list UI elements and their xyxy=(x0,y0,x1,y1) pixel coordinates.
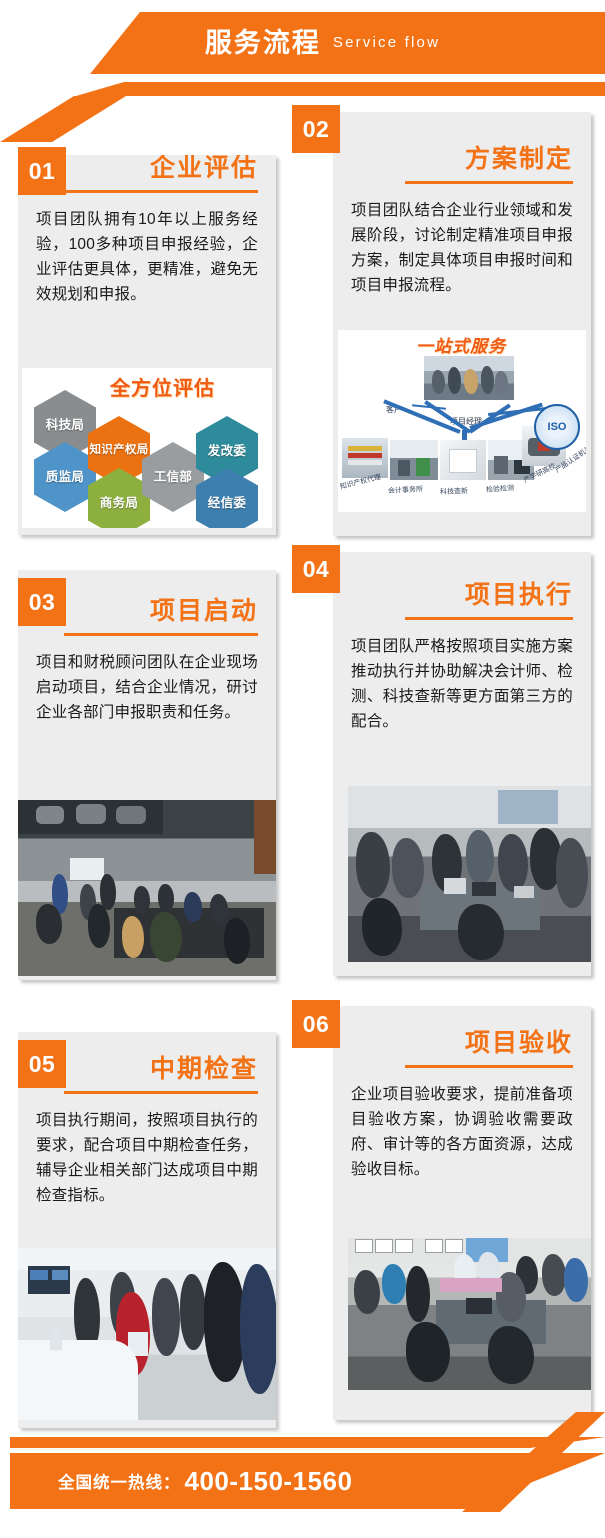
oss-partner-thumb xyxy=(390,440,438,480)
person-silhouette xyxy=(158,884,174,912)
step-body-04: 项目团队严格按照项目实施方案推动执行并协助解决会计师、检测、科技查新等更方面第三… xyxy=(333,620,591,734)
hex-node-label: 经信委 xyxy=(208,496,246,510)
photo-conference-table-04 xyxy=(348,786,591,962)
person-silhouette xyxy=(466,830,494,884)
wall-certificate xyxy=(396,1240,412,1252)
person-silhouette xyxy=(150,912,182,962)
step-title-02: 方案制定 xyxy=(333,112,591,174)
reception-counter xyxy=(18,1340,138,1420)
header-chevron-tail xyxy=(0,96,200,142)
figure-silhouette xyxy=(464,369,478,394)
hex-node-2: 质监局 xyxy=(34,442,96,512)
hex-node-label: 知识产权局 xyxy=(90,444,149,457)
book-stack xyxy=(348,460,382,465)
hotline-label: 全国统一热线： xyxy=(58,1469,181,1493)
person-silhouette xyxy=(392,838,424,898)
counter-display xyxy=(50,1328,62,1350)
wood-wall-panel xyxy=(254,800,276,874)
wall-certificate xyxy=(376,1240,392,1252)
hex-assessment-diagram: 全方位评估 科技局 质监局 知识产权局 商务局 工信部 发改委 经信委 xyxy=(22,368,272,528)
ceiling-panel xyxy=(116,806,146,824)
step-title-01: 企业评估 xyxy=(64,155,276,183)
flower-arrangement xyxy=(440,1278,502,1292)
page-header: 服务流程 Service flow xyxy=(0,0,605,112)
footer-hotline-group: 全国统一热线： 400-150-1560 xyxy=(10,1453,470,1509)
oss-partner-label-3: 检验检测 xyxy=(486,483,515,495)
wall-certificate xyxy=(356,1240,372,1252)
hex-node-label: 工信部 xyxy=(154,470,192,484)
hex-node-6: 经信委 xyxy=(196,468,258,528)
laptop xyxy=(466,1298,492,1314)
step-title-04: 项目执行 xyxy=(333,552,591,610)
document-stack xyxy=(444,878,466,894)
person-silhouette xyxy=(354,1270,380,1314)
step-title-03: 项目启动 xyxy=(64,570,276,626)
person-silhouette xyxy=(498,834,528,892)
person-silhouette xyxy=(180,1274,206,1350)
step-body-01: 项目团队拥有10年以上服务经验，100多种项目申报经验，企业评估更具体，更精准，… xyxy=(18,193,276,307)
document-stack xyxy=(514,886,534,898)
step-number-badge-04: 04 xyxy=(292,545,340,593)
footer-accent-stripe xyxy=(10,1437,605,1448)
office-chair xyxy=(488,1326,534,1384)
step-number-badge-03: 03 xyxy=(18,578,66,626)
screen-content xyxy=(30,1270,48,1280)
wall-certificate xyxy=(446,1240,462,1252)
hex-diagram-title: 全方位评估 xyxy=(110,372,215,401)
step-number-badge-02: 02 xyxy=(292,105,340,153)
ceiling-panel xyxy=(76,804,106,824)
step-body-05: 项目执行期间，按照项目执行的要求，配合项目中期检查任务，辅导企业相关部门达成项目… xyxy=(18,1094,276,1208)
step-number-badge-06: 06 xyxy=(292,1000,340,1048)
office-chair xyxy=(406,1322,450,1382)
header-title-group: 服务流程 Service flow xyxy=(0,12,605,74)
page-subtitle: Service flow xyxy=(333,35,440,51)
oss-partner-label-1: 会计事务所 xyxy=(388,484,423,496)
office-chair xyxy=(458,904,504,960)
one-stop-service-diagram: 一站式服务 客户 项目经理 ISO 知识产权代理 会计事务所 xyxy=(338,330,586,512)
figure-silhouette xyxy=(481,366,494,394)
ceiling-panel xyxy=(36,806,64,824)
photo-content xyxy=(348,1238,591,1390)
lab-instrument xyxy=(494,456,508,474)
whiteboard xyxy=(70,858,104,880)
person-silhouette xyxy=(134,886,150,914)
photo-board-meeting-06 xyxy=(348,1238,591,1390)
step-title-06: 项目验收 xyxy=(333,1006,591,1058)
book-stack xyxy=(348,453,382,458)
photo-exhibition-hall-05 xyxy=(18,1248,276,1420)
person-silhouette xyxy=(122,916,144,958)
step-body-06: 企业项目验收要求，提前准备项目验收方案，协调验收需要政府、审计等的各方面资源，达… xyxy=(333,1068,591,1182)
office-chair xyxy=(362,898,402,956)
person-silhouette xyxy=(240,1264,276,1394)
person-silhouette xyxy=(184,892,202,922)
photo-content xyxy=(348,786,591,962)
step-body-02: 项目团队结合企业行业领域和发展阶段，讨论制定精准项目申报方案，制定具体项目申报时… xyxy=(333,184,591,298)
oss-partner-thumb xyxy=(440,440,486,480)
office-desk xyxy=(398,460,410,476)
hex-node-3: 工信部 xyxy=(142,442,204,512)
office-chair xyxy=(224,918,250,964)
hotline-number[interactable]: 400-150-1560 xyxy=(185,1466,353,1497)
iso-certification-seal: ISO xyxy=(534,404,580,450)
hex-node-4: 商务局 xyxy=(88,468,150,528)
oss-diagram-title: 一站式服务 xyxy=(416,332,506,357)
header-accent-stripe xyxy=(0,82,605,96)
oss-partner-thumb xyxy=(342,438,388,478)
person-silhouette xyxy=(210,894,228,924)
step-title-05: 中期检查 xyxy=(64,1032,276,1084)
person-silhouette xyxy=(564,1258,588,1302)
wall-certificate xyxy=(426,1240,442,1252)
photo-content xyxy=(18,800,276,976)
hex-node-label: 质监局 xyxy=(46,470,84,484)
screen-content xyxy=(52,1270,68,1280)
person-silhouette xyxy=(542,1254,566,1296)
figure-silhouette xyxy=(432,370,445,394)
document-sheet xyxy=(450,450,476,472)
person-silhouette xyxy=(88,904,110,948)
page-title: 服务流程 xyxy=(205,30,321,57)
seal-label: ISO xyxy=(548,421,567,433)
figure-silhouette xyxy=(495,371,508,394)
window xyxy=(498,790,558,824)
office-plant xyxy=(416,458,430,476)
hex-node-label: 发改委 xyxy=(208,444,246,458)
laptop xyxy=(472,882,496,896)
person-silhouette xyxy=(406,1266,430,1322)
hex-node-label: 商务局 xyxy=(100,496,138,510)
figure-silhouette xyxy=(448,367,461,394)
hex-node-label: 科技局 xyxy=(46,418,84,432)
person-silhouette xyxy=(356,832,390,898)
book-stack xyxy=(348,446,382,451)
person-silhouette xyxy=(382,1264,406,1304)
oss-partner-label-2: 科技查新 xyxy=(440,486,468,497)
oss-team-photo xyxy=(424,356,514,400)
photo-meeting-room-03 xyxy=(18,800,276,976)
step-body-03: 项目和财税顾问团队在企业现场启动项目，结合企业情况，研讨企业各部门申报职责和任务… xyxy=(18,636,276,725)
step-number-badge-01: 01 xyxy=(18,147,66,195)
person-silhouette xyxy=(152,1278,180,1356)
person-silhouette xyxy=(556,838,588,908)
photo-content xyxy=(18,1248,276,1420)
office-chair xyxy=(36,904,62,944)
step-number-badge-05: 05 xyxy=(18,1040,66,1088)
